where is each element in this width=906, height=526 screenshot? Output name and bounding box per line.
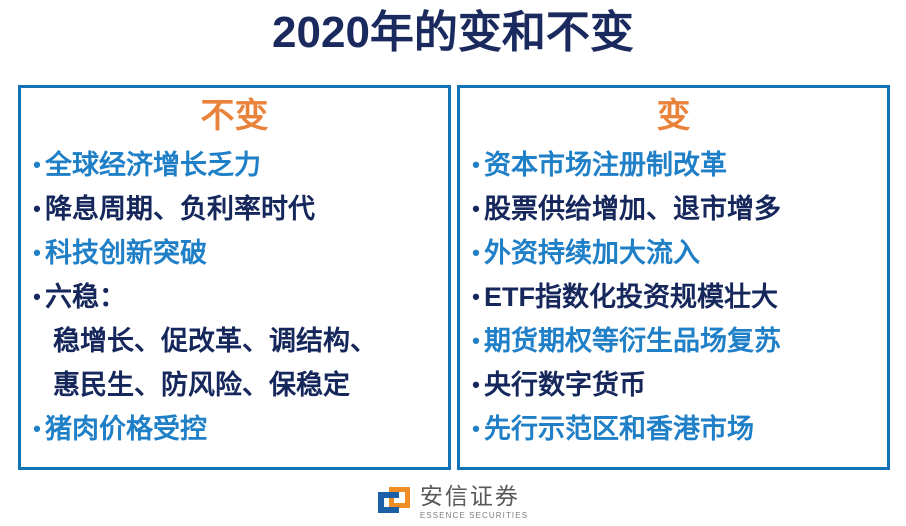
bullet-icon: • [468,363,484,407]
list-item-subgroup: 稳增长、促改革、调结构、 惠民生、防风险、保稳定 [29,319,442,407]
list-item[interactable]: • 先行示范区和香港市场 [468,407,881,451]
list-item[interactable]: • 猪肉价格受控 [29,407,442,451]
list-item-label: 六稳： [45,275,126,319]
list-item-label: 外资持续加大流入 [484,231,700,275]
essence-securities-logo-icon [378,487,411,518]
list-item-label: 科技创新突破 [45,231,207,275]
list-item-label: 期货期权等衍生品场复苏 [484,319,781,363]
panel-unchanged-list: • 全球经济增长乏力 • 降息周期、负利率时代 • 科技创新突破 • 六稳： 稳… [21,143,448,451]
list-item-label: 股票供给增加、退市增多 [484,187,781,231]
list-item-label: 猪肉价格受控 [45,407,207,451]
bullet-icon: • [468,275,484,319]
list-item[interactable]: • 股票供给增加、退市增多 [468,187,881,231]
logo-name-en: ESSENCE SECURITIES [420,510,528,521]
panel-changed-list: • 资本市场注册制改革 • 股票供给增加、退市增多 • 外资持续加大流入 • E… [460,143,887,451]
list-subline: 稳增长、促改革、调结构、 [29,319,442,363]
bullet-icon: • [29,407,45,451]
bullet-icon: • [468,407,484,451]
list-item-label: 资本市场注册制改革 [484,143,727,187]
panel-unchanged: 不变 • 全球经济增长乏力 • 降息周期、负利率时代 • 科技创新突破 • 六稳… [18,85,451,470]
list-item-label: ETF指数化投资规模壮大 [484,275,778,319]
logo-text-block: 安信证券 ESSENCE SECURITIES [420,484,528,521]
panels-container: 不变 • 全球经济增长乏力 • 降息周期、负利率时代 • 科技创新突破 • 六稳… [18,85,890,470]
list-item[interactable]: • 外资持续加大流入 [468,231,881,275]
list-item-label: 先行示范区和香港市场 [484,407,754,451]
logo-blue-bracket-icon [378,492,399,513]
list-item[interactable]: • 降息周期、负利率时代 [29,187,442,231]
list-item[interactable]: • ETF指数化投资规模壮大 [468,275,881,319]
list-item[interactable]: • 期货期权等衍生品场复苏 [468,319,881,363]
bullet-icon: • [29,187,45,231]
bullet-icon: • [468,319,484,363]
footer-logo: 安信证券 ESSENCE SECURITIES [0,484,906,521]
panel-changed-header: 变 [460,92,887,142]
list-item-label: 降息周期、负利率时代 [45,187,315,231]
list-item[interactable]: • 央行数字货币 [468,363,881,407]
bullet-icon: • [468,187,484,231]
list-item[interactable]: • 六稳： [29,275,442,319]
bullet-icon: • [468,143,484,187]
bullet-icon: • [29,231,45,275]
panel-unchanged-header: 不变 [21,92,448,142]
list-item-label: 央行数字货币 [484,363,646,407]
bullet-icon: • [468,231,484,275]
list-item[interactable]: • 资本市场注册制改革 [468,143,881,187]
list-item-label: 全球经济增长乏力 [45,143,261,187]
panel-changed: 变 • 资本市场注册制改革 • 股票供给增加、退市增多 • 外资持续加大流入 •… [457,85,890,470]
bullet-icon: • [29,143,45,187]
page-title: 2020年的变和不变 [0,4,906,62]
list-item[interactable]: • 全球经济增长乏力 [29,143,442,187]
list-subline: 惠民生、防风险、保稳定 [29,363,442,407]
bullet-icon: • [29,275,45,319]
logo-name-cn: 安信证券 [420,484,520,508]
list-item[interactable]: • 科技创新突破 [29,231,442,275]
